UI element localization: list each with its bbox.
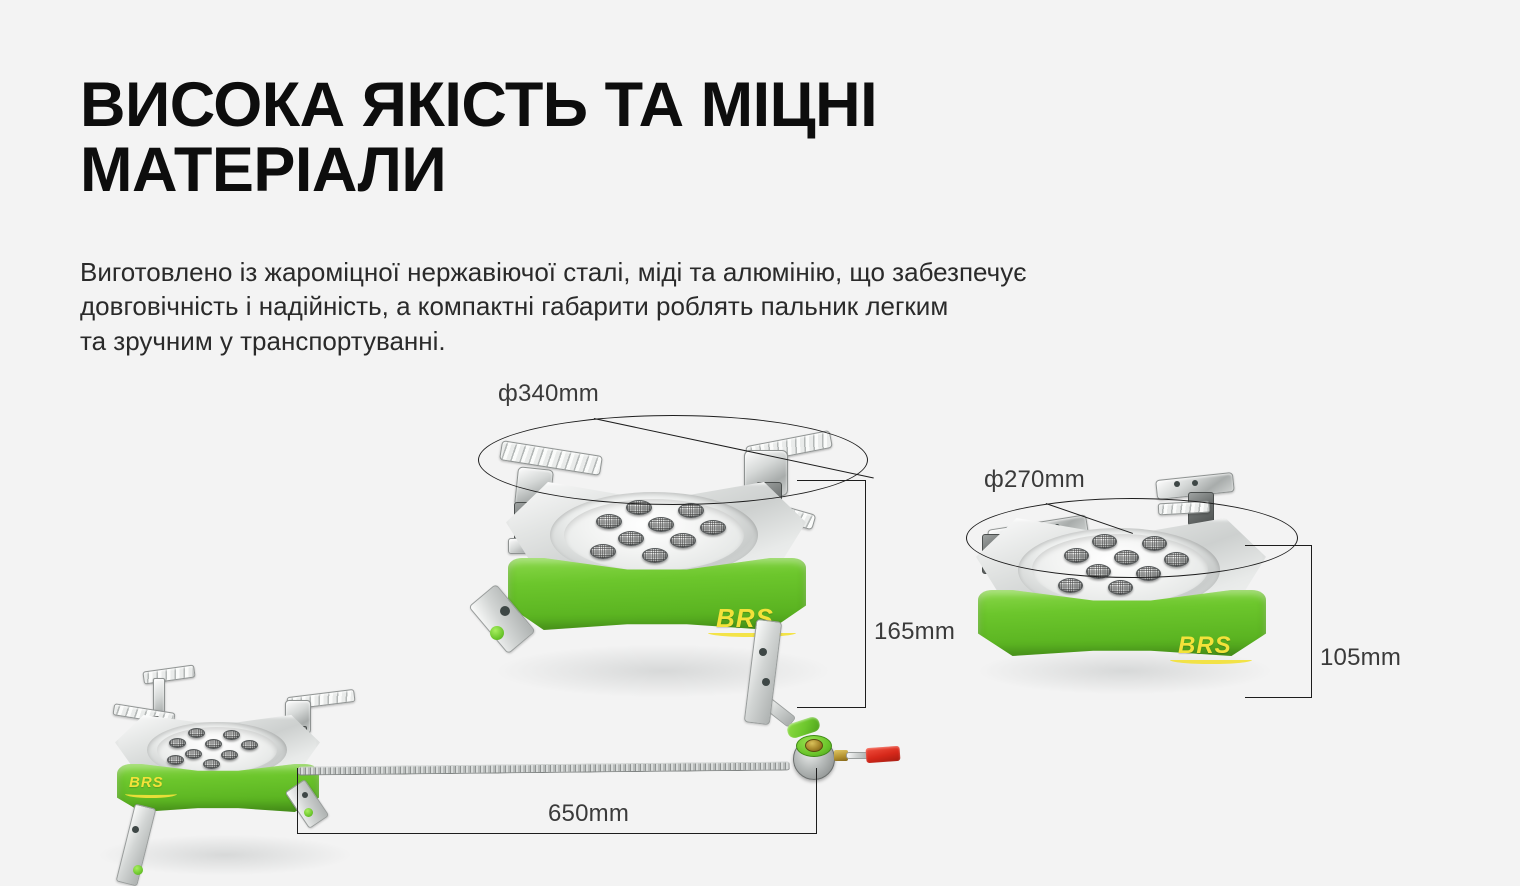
dimension-label-diameter-folded: ф270mm [984, 466, 1085, 494]
stove-leg-tip [490, 626, 504, 640]
burner-jet [221, 750, 238, 760]
description-paragraph: Виготовлено із жароміцної нержавіючої ст… [80, 255, 1410, 358]
burner-jet [618, 531, 644, 546]
infographic-page: ВИСОКА ЯКІСТЬ ТА МІЦНІ МАТЕРІАЛИ Виготов… [0, 0, 1520, 886]
brand-swoosh [708, 629, 796, 637]
burner-jet [223, 730, 240, 740]
burner-jet [205, 739, 222, 749]
stove-leg-hole [759, 648, 767, 656]
burner-jet [203, 759, 220, 769]
gas-connector [866, 746, 901, 763]
ground-shadow [498, 645, 828, 697]
burner-jet [185, 749, 202, 759]
dimension-label-hose-length: 650mm [548, 800, 629, 828]
dimension-label-height-folded: 105mm [1320, 644, 1401, 672]
burner-jet [596, 514, 622, 529]
brand-swoosh [125, 790, 177, 798]
burner-jet [642, 548, 668, 563]
brand-swoosh [1170, 656, 1252, 664]
page-title: ВИСОКА ЯКІСТЬ ТА МІЦНІ МАТЕРІАЛИ [80, 73, 1080, 203]
burner-jet [169, 738, 186, 748]
burner-jet [1058, 578, 1083, 593]
burner-jet [700, 520, 726, 535]
brand-logo: BRS [129, 774, 164, 791]
burner-jet [1108, 580, 1133, 595]
dimension-bracket-height-open [797, 480, 866, 708]
burner-jet [670, 533, 696, 548]
stove-leg-hole [500, 606, 510, 616]
valve-center-nut [805, 739, 823, 752]
stove-leg-tip [133, 865, 143, 875]
burner-jet [241, 740, 258, 750]
dimension-label-diameter-open: ф340mm [498, 380, 599, 408]
burner-jet [167, 755, 184, 765]
burner-jet [648, 517, 674, 532]
stove-leg-hole [132, 826, 139, 833]
burner-jet [678, 503, 704, 518]
burner-jet [590, 544, 616, 559]
dimension-bracket-height-folded [1245, 545, 1312, 698]
stove-leg-hole [762, 678, 770, 686]
arm-hole [1174, 481, 1180, 487]
arm-hole [1192, 480, 1198, 486]
dimension-label-height-open: 165mm [874, 618, 955, 646]
burner-jet [188, 728, 205, 738]
pot-support-arm [142, 664, 195, 684]
